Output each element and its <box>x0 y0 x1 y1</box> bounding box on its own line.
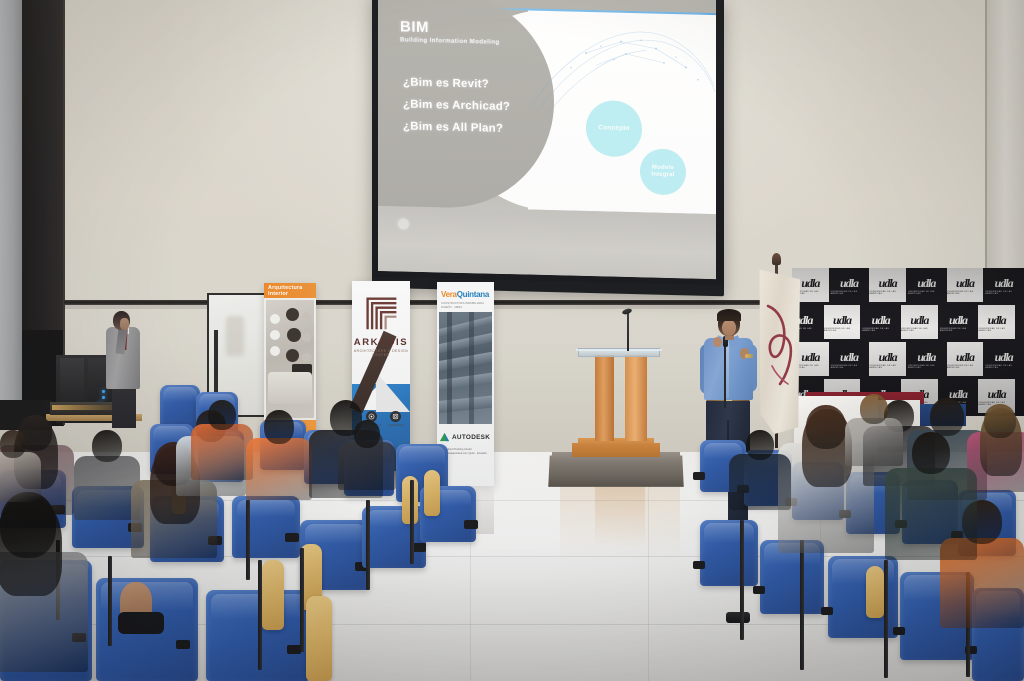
audience-head <box>0 430 26 458</box>
tablet-arm <box>866 566 884 618</box>
seat-highlight <box>305 524 365 544</box>
seat-highlight <box>704 523 754 543</box>
audience-sleeve-cuff <box>118 612 164 634</box>
seat-bracket <box>464 520 478 529</box>
audience-torso <box>191 424 253 480</box>
seat-leg <box>366 500 370 590</box>
seat-bracket <box>412 543 426 552</box>
audience-head <box>860 394 888 424</box>
seat-bracket <box>753 586 765 594</box>
audience-head <box>208 400 236 430</box>
seat-bracket <box>821 607 833 615</box>
audience-head <box>930 398 964 436</box>
seat-bracket <box>893 627 905 635</box>
seat-leg <box>800 540 804 670</box>
audience-head <box>264 410 294 444</box>
audience-torso <box>885 468 977 560</box>
seat-leg <box>108 556 112 646</box>
audience-head <box>912 432 950 474</box>
seat-highlight <box>399 446 445 465</box>
seat-leg <box>258 560 262 670</box>
seat-bracket <box>693 561 705 569</box>
audience-head <box>984 404 1016 438</box>
auditorium-photo: BIM Building Information Modeling ¿Bim e… <box>0 0 1024 681</box>
audience-torso <box>0 452 41 502</box>
audience-head <box>354 420 380 448</box>
seat-leg <box>410 480 414 564</box>
audience-torso <box>729 454 791 510</box>
seat-bracket <box>285 533 299 542</box>
seat-leg <box>300 548 304 652</box>
seat-leg <box>740 520 744 640</box>
audience-torso <box>845 418 903 466</box>
seat-highlight <box>163 387 197 402</box>
seat-leg <box>884 560 888 678</box>
audience-head <box>806 405 846 449</box>
seat-bracket <box>176 640 190 649</box>
audience-torso <box>338 442 396 490</box>
seat-bracket <box>287 645 301 654</box>
tablet-arm <box>306 596 332 681</box>
audience-head <box>92 430 122 462</box>
audience-torso <box>246 438 312 500</box>
tablet-arm <box>262 560 284 630</box>
seat-leg <box>246 500 250 580</box>
audience-seating <box>0 0 1024 681</box>
audience-head <box>746 430 774 460</box>
seat-bracket <box>693 472 705 480</box>
tablet-arm <box>424 470 440 516</box>
